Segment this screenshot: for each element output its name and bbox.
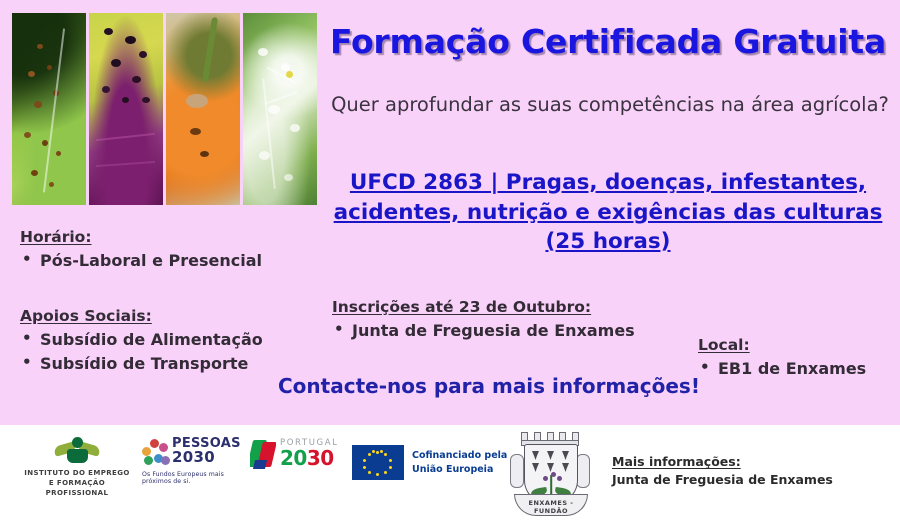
- list-item: Subsídio de Transporte: [20, 352, 263, 376]
- photo-yellow-purple-diseased-leaf: [89, 13, 163, 205]
- pessoas-tagline: Os Fundos Europeus mais próximos de si.: [142, 471, 247, 485]
- pessoas-year: 2030: [172, 450, 241, 466]
- page-subtitle: Quer aprofundar as suas competências na …: [330, 92, 890, 118]
- iefp-line2: E FORMAÇÃO PROFISSIONAL: [18, 478, 136, 498]
- more-information-block: Mais informações: Junta de Freguesia de …: [612, 454, 833, 487]
- european-union-logo: Cofinanciado pela União Europeia: [352, 445, 507, 480]
- photo-rotting-tomato: [166, 13, 240, 205]
- photo-powdery-mildew-leaf: [243, 13, 317, 205]
- location-heading: Local:: [698, 336, 866, 354]
- schedule-block: Horário: Pós-Laboral e Presencial: [20, 228, 262, 273]
- more-information-heading: Mais informações:: [612, 454, 833, 469]
- registration-block: Inscrições até 23 de Outubro: Junta de F…: [332, 298, 635, 343]
- enxames-coat-of-arms-icon: ENXAMES - FUNDÃO: [505, 428, 595, 518]
- portugal-flag-icon: [250, 439, 276, 469]
- portugal-year-second: 30: [307, 446, 334, 470]
- motto-ribbon: ENXAMES - FUNDÃO: [514, 494, 588, 516]
- portugal-2030-logo: PORTUGAL 2030: [250, 439, 338, 469]
- iefp-logo: INSTITUTO DO EMPREGO E FORMAÇÃO PROFISSI…: [18, 437, 136, 498]
- social-support-heading: Apoios Sociais:: [20, 307, 263, 325]
- portugal-year-first: 20: [280, 446, 307, 470]
- social-support-list: Subsídio de Alimentação Subsídio de Tran…: [20, 328, 263, 376]
- photo-strip: [12, 13, 317, 205]
- list-item: Subsídio de Alimentação: [20, 328, 263, 352]
- poster-canvas: Formação Certificada Gratuita Quer aprof…: [0, 0, 900, 521]
- schedule-list: Pós-Laboral e Presencial: [20, 249, 262, 273]
- pessoas-2030-logo: PESSOAS 2030 Os Fundos Europeus mais pró…: [142, 437, 247, 485]
- photo-leaf-with-brown-spots: [12, 13, 86, 205]
- location-block: Local: EB1 de Enxames: [698, 336, 866, 381]
- pessoas-emblem-icon: [142, 437, 168, 465]
- list-item: EB1 de Enxames: [698, 357, 866, 381]
- registration-heading: Inscrições até 23 de Outubro:: [332, 298, 635, 316]
- social-support-block: Apoios Sociais: Subsídio de Alimentação …: [20, 307, 263, 376]
- location-list: EB1 de Enxames: [698, 357, 866, 381]
- list-item: Pós-Laboral e Presencial: [20, 249, 262, 273]
- schedule-heading: Horário:: [20, 228, 262, 246]
- iefp-line1: INSTITUTO DO EMPREGO: [18, 468, 136, 478]
- iefp-emblem-icon: [54, 437, 100, 463]
- motto-text: ENXAMES - FUNDÃO: [515, 499, 587, 515]
- registration-list: Junta de Freguesia de Enxames: [332, 319, 635, 343]
- more-information-body: Junta de Freguesia de Enxames: [612, 472, 833, 487]
- eu-flag-icon: [352, 445, 404, 480]
- page-title: Formação Certificada Gratuita: [322, 22, 894, 61]
- contact-call-to-action: Contacte-nos para mais informações!: [278, 374, 700, 398]
- eu-line2: União Europeia: [412, 463, 507, 476]
- eu-line1: Cofinanciado pela: [412, 449, 507, 462]
- footer-logo-bar: INSTITUTO DO EMPREGO E FORMAÇÃO PROFISSI…: [0, 425, 900, 521]
- list-item: Junta de Freguesia de Enxames: [332, 319, 635, 343]
- course-title: UFCD 2863 | Pragas, doenças, infestantes…: [322, 168, 894, 257]
